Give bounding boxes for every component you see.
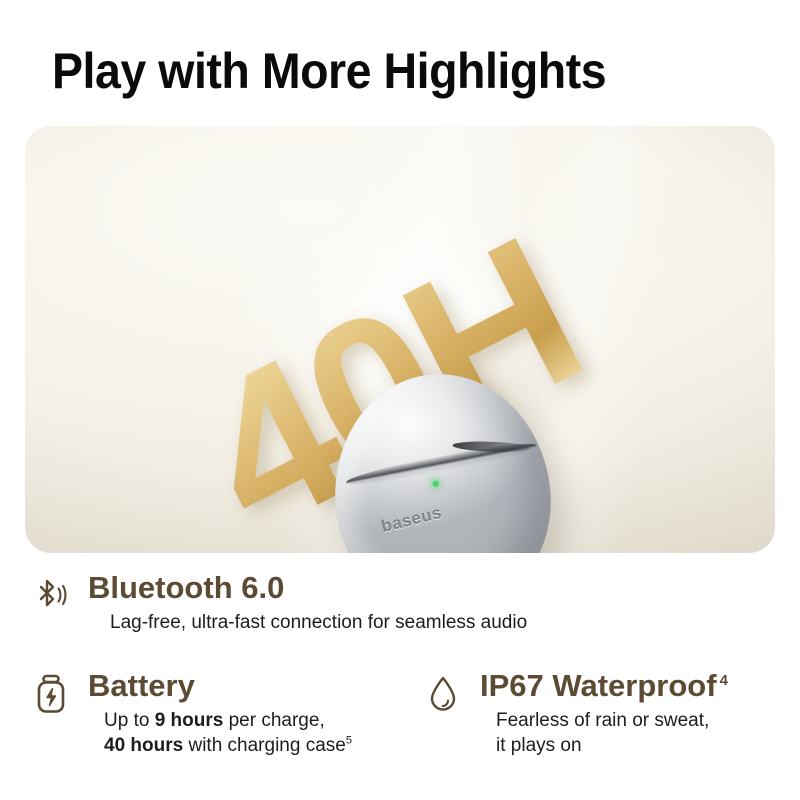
product-hero-image: 40H baseus baseus BRC Baseus Ra: [25, 126, 775, 553]
feature-waterproof-description: Fearless of rain or sweat, it plays on: [496, 708, 728, 758]
feature-bluetooth: Bluetooth 6.0 Lag-free, ultra-fast conne…: [28, 572, 527, 635]
page-title: Play with More Highlights: [52, 42, 606, 100]
feature-battery-body: Battery Up to 9 hours per charge, 40 hou…: [88, 670, 352, 758]
feature-waterproof: IP67 Waterproof4 Fearless of rain or swe…: [420, 670, 728, 758]
feature-bluetooth-title: Bluetooth 6.0: [88, 572, 527, 605]
battery-line-2: 40 hours with charging case5: [104, 735, 352, 756]
feature-waterproof-title: IP67 Waterproof4: [480, 670, 728, 703]
battery-line-1: Up to 9 hours per charge,: [104, 710, 325, 731]
battery-charge-icon: [28, 670, 74, 715]
hero-vignette: [25, 126, 775, 553]
feature-waterproof-body: IP67 Waterproof4 Fearless of rain or swe…: [480, 670, 728, 758]
feature-battery-title: Battery: [88, 670, 352, 703]
feature-battery-description: Up to 9 hours per charge, 40 hours with …: [104, 708, 352, 758]
feature-bluetooth-description: Lag-free, ultra-fast connection for seam…: [110, 610, 527, 635]
waterproof-line-2: it plays on: [496, 735, 582, 756]
bluetooth-icon: [28, 572, 74, 615]
water-drop-icon: [420, 670, 466, 715]
waterproof-line-1: Fearless of rain or sweat,: [496, 710, 709, 731]
feature-battery: Battery Up to 9 hours per charge, 40 hou…: [28, 670, 352, 758]
feature-bluetooth-body: Bluetooth 6.0 Lag-free, ultra-fast conne…: [88, 572, 527, 635]
